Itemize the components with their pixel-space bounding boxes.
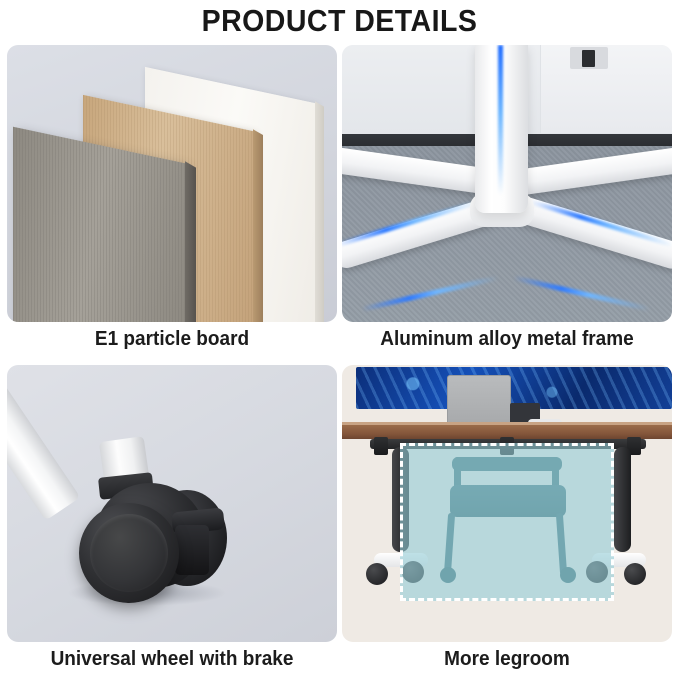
laptop-screen: [447, 375, 511, 427]
details-grid: E1 particle board: [7, 45, 672, 670]
detail-card-particle-board[interactable]: E1 particle board: [7, 45, 337, 350]
desk-leg-panel-right: [614, 447, 631, 552]
legroom-highlight-area: [400, 443, 614, 601]
wall-socket-icon: [570, 47, 608, 69]
desk-caster-1: [366, 563, 388, 585]
caster-front-wheel: [79, 503, 179, 603]
leg-blue-glow: [498, 45, 503, 195]
caption-particle-board: E1 particle board: [15, 325, 329, 353]
universal-wheel-image: [7, 365, 337, 642]
oak-board-edge: [253, 129, 263, 322]
product-details-infographic: PRODUCT DETAILS E1 particle board: [0, 0, 679, 673]
more-legroom-image: [342, 365, 672, 642]
page-title: PRODUCT DETAILS: [27, 2, 652, 40]
detail-card-universal-wheel[interactable]: Universal wheel with brake: [7, 365, 337, 670]
metal-frame-image: [342, 45, 672, 322]
caption-universal-wheel: Universal wheel with brake: [15, 645, 329, 673]
detail-card-more-legroom[interactable]: More legroom: [342, 365, 672, 670]
brake-body: [175, 525, 209, 575]
detail-card-metal-frame[interactable]: Aluminum alloy metal frame: [342, 45, 672, 350]
desk-bracket-left: [374, 437, 388, 455]
leg-upper-tube: [7, 373, 80, 521]
white-board-edge: [315, 101, 324, 322]
particle-board-image: [7, 45, 337, 322]
caption-more-legroom: More legroom: [350, 645, 664, 673]
frame-vertical-leg: [475, 45, 528, 213]
caption-metal-frame: Aluminum alloy metal frame: [350, 325, 664, 353]
desk-caster-4: [624, 563, 646, 585]
grey-board-edge: [185, 161, 196, 322]
